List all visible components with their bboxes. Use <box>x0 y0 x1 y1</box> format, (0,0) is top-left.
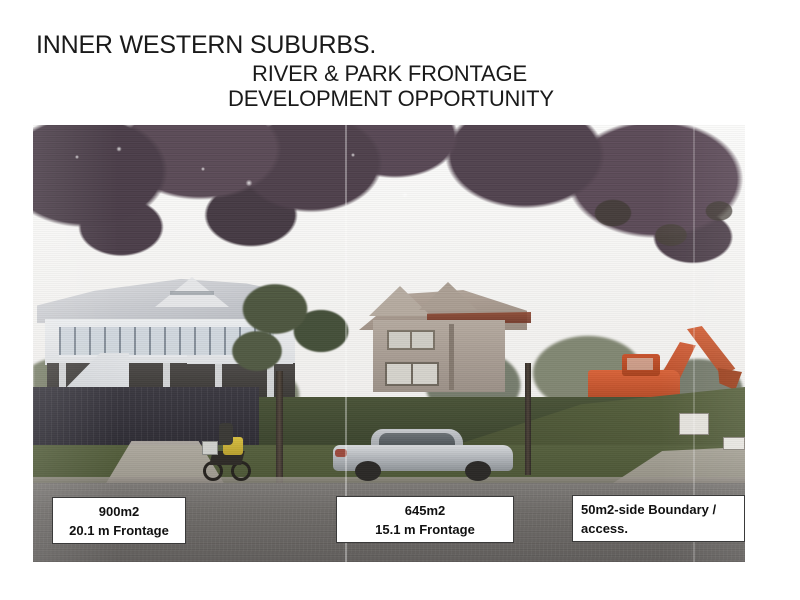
caption-access: access. <box>581 519 738 538</box>
caption-frontage: 20.1 m Frontage <box>59 521 179 540</box>
caption-area: 900m2 <box>59 502 179 521</box>
caption-box-lot-645: 645m2 15.1 m Frontage <box>336 496 514 543</box>
caption-boundary: 50m2-side Boundary / <box>581 500 738 519</box>
heading-line-primary: INNER WESTERN SUBURBS. <box>36 30 376 60</box>
caption-frontage: 15.1 m Frontage <box>343 520 507 539</box>
heading-line-tertiary: DEVELOPMENT OPPORTUNITY <box>228 85 554 113</box>
caption-area: 645m2 <box>343 501 507 520</box>
caption-box-lot-900: 900m2 20.1 m Frontage <box>52 497 186 544</box>
caption-box-lot-50-boundary: 50m2-side Boundary / access. <box>572 495 745 542</box>
heading-line-secondary: RIVER & PARK FRONTAGE <box>252 60 527 88</box>
